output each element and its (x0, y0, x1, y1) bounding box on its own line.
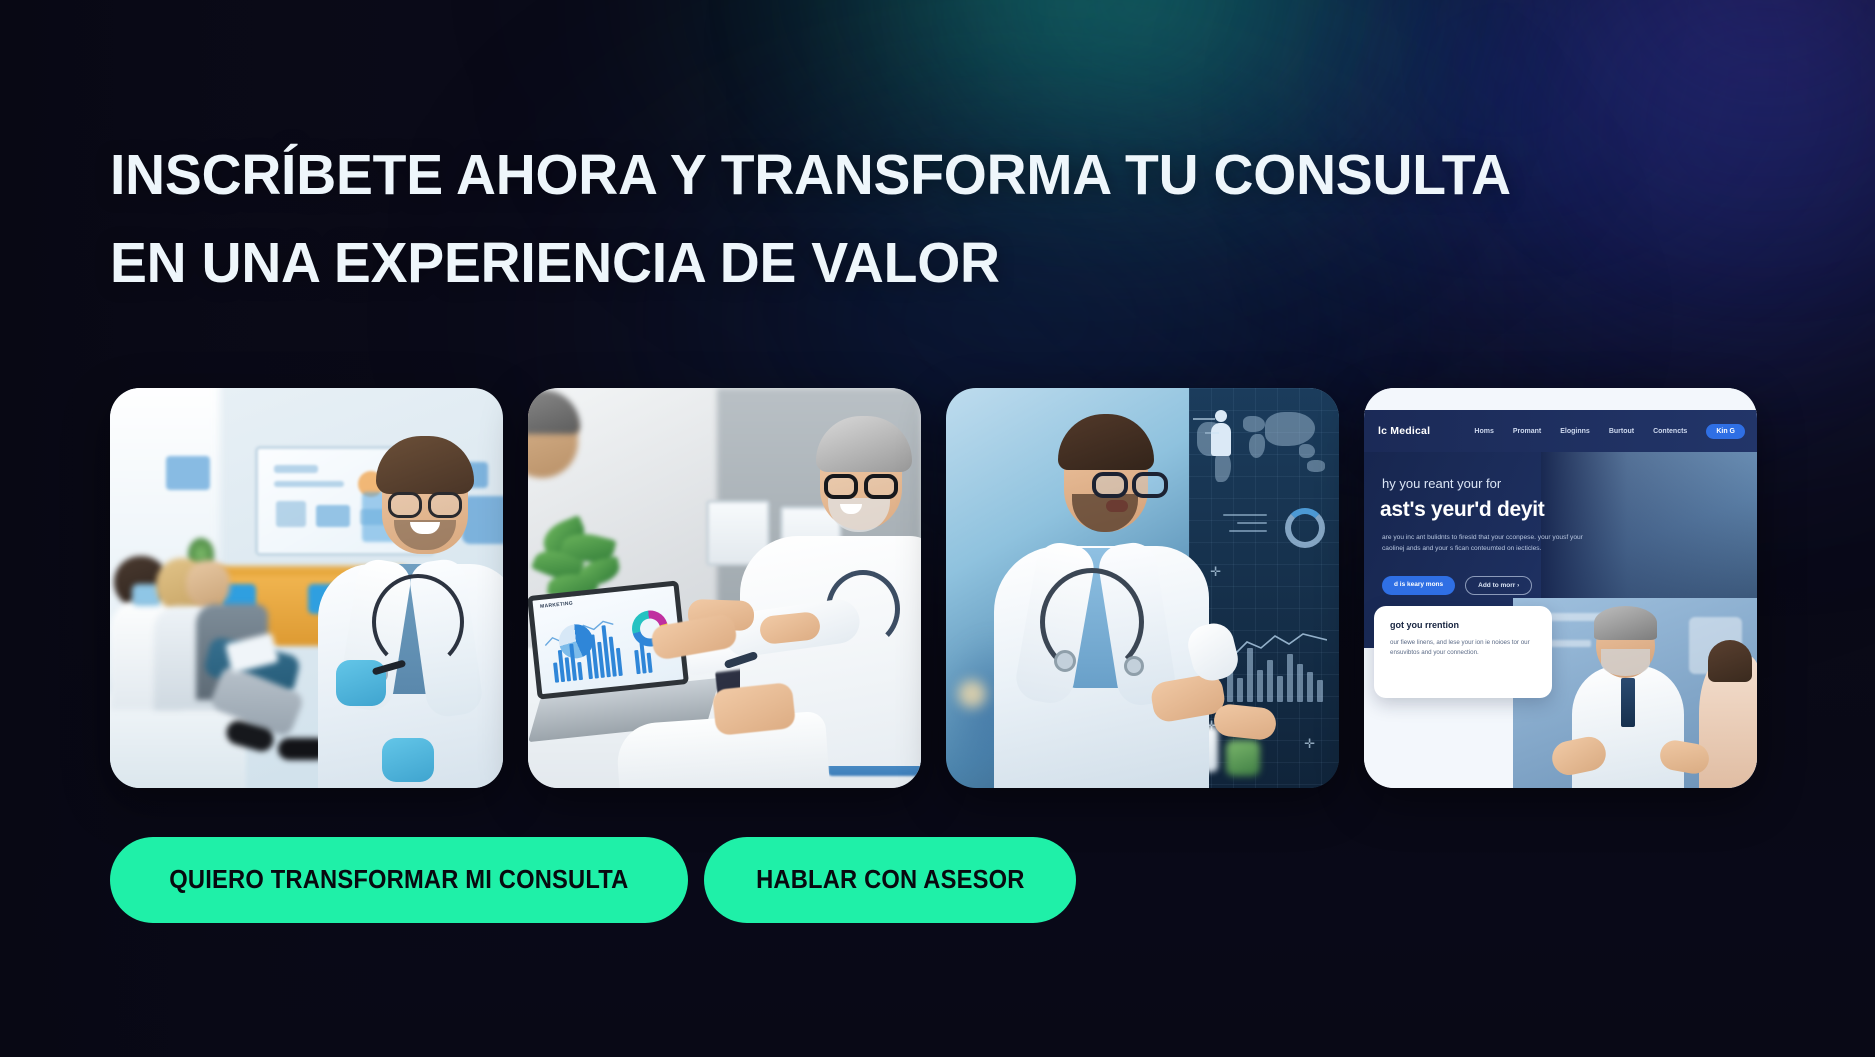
mockup-hero-eyebrow: hy you reant your for (1382, 476, 1501, 491)
mockup-hero-title: ast's yeur'd deyit (1380, 498, 1545, 522)
mockup-nav-items: Homs Promant Eloginns Burtout Contencts … (1474, 424, 1757, 439)
mockup-navbar: lc Medical Homs Promant Eloginns Burtout… (1364, 410, 1757, 452)
website-mockup: lc Medical Homs Promant Eloginns Burtout… (1364, 388, 1757, 788)
mockup-nav-item-3[interactable]: Burtout (1609, 428, 1634, 435)
gallery-card-clinic-waiting-room (110, 388, 503, 788)
mockup-feature-card: got you rrention our fiewe linens, and l… (1374, 606, 1552, 698)
mockup-nav-item-0[interactable]: Homs (1474, 428, 1493, 435)
headline-line-2: EN UNA EXPERIENCIA DE VALOR (110, 219, 1759, 307)
mockup-nav-cta-button[interactable]: Kin G (1706, 424, 1745, 439)
gallery-card-medical-website-mockup: lc Medical Homs Promant Eloginns Burtout… (1364, 388, 1757, 788)
mockup-hero-body: are you inc ant bulidnts to firesld that… (1382, 532, 1592, 554)
mockup-nav-item-2[interactable]: Eloginns (1560, 428, 1590, 435)
cta-button-group: QUIERO TRANSFORMAR MI CONSULTA HABLAR CO… (110, 837, 1076, 923)
mockup-logo: lc Medical (1378, 425, 1430, 437)
mockup-feature-card-title: got you rrention (1390, 620, 1552, 630)
primary-cta-label: QUIERO TRANSFORMAR MI CONSULTA (169, 866, 628, 895)
headline-line-1: INSCRÍBETE AHORA Y TRANSFORMA TU CONSULT… (110, 131, 1759, 219)
mockup-nav-item-4[interactable]: Contencts (1653, 428, 1687, 435)
mockup-hero-buttons: d is keary mons Add to morr › (1382, 576, 1532, 595)
mockup-hero-primary-button[interactable]: d is keary mons (1382, 576, 1455, 595)
secondary-cta-button[interactable]: HABLAR CON ASESOR (704, 837, 1077, 923)
laptop-analytics-photo: MARKETING (528, 388, 921, 788)
gallery-card-doctor-laptop-analytics: MARKETING (528, 388, 921, 788)
dashboard-presentation-photo: ✛ ✛ ✛ (946, 388, 1339, 788)
page-title: INSCRÍBETE AHORA Y TRANSFORMA TU CONSULT… (110, 131, 1810, 307)
mockup-nav-item-1[interactable]: Promant (1513, 428, 1541, 435)
secondary-cta-label: HABLAR CON ASESOR (756, 866, 1024, 895)
clinic-photo (110, 388, 503, 788)
image-gallery: MARKETING (110, 388, 1757, 788)
primary-cta-button[interactable]: QUIERO TRANSFORMAR MI CONSULTA (110, 837, 688, 923)
mockup-feature-card-body: our fiewe linens, and lese your ion ie n… (1390, 638, 1536, 658)
mockup-hero-secondary-button[interactable]: Add to morr › (1465, 576, 1532, 595)
gallery-card-doctor-presenting-dashboard: ✛ ✛ ✛ (946, 388, 1339, 788)
